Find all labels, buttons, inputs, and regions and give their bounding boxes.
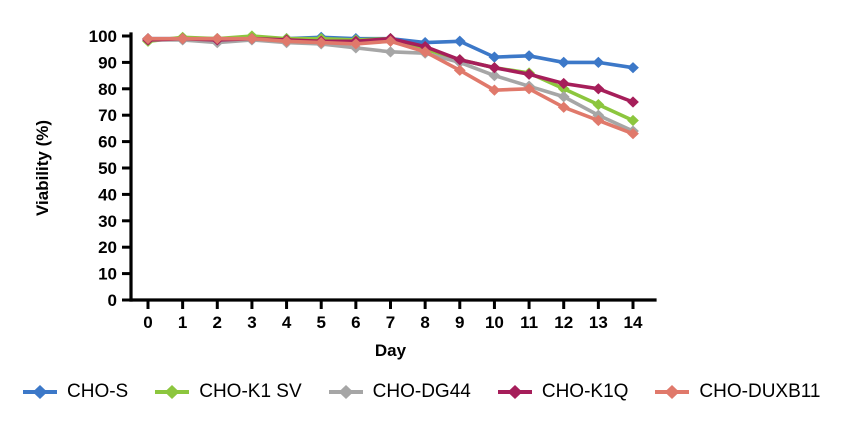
legend-diamond: [165, 385, 180, 399]
data-point-marker: [385, 46, 397, 57]
x-axis-title: Day: [375, 341, 407, 360]
legend-marker-icon: [654, 382, 690, 402]
legend-marker-icon: [154, 382, 190, 402]
legend-diamond: [33, 385, 48, 399]
data-point-marker: [558, 57, 570, 68]
x-axis-tick-label: 10: [485, 313, 504, 332]
x-axis-tick-label: 3: [247, 313, 256, 332]
legend-item[interactable]: CHO-K1Q: [497, 381, 629, 403]
y-axis-tick-label: 80: [98, 80, 117, 99]
plot-area: 0102030405060708090100012345678910111213…: [0, 0, 866, 372]
data-point-marker: [489, 62, 501, 73]
data-point-marker: [592, 99, 604, 110]
legend-marker-icon: [22, 382, 58, 402]
x-axis-tick-label: 5: [316, 313, 325, 332]
y-axis-tick-label: 50: [98, 159, 117, 178]
y-axis-tick-label: 70: [98, 106, 117, 125]
x-axis-tick-label: 12: [554, 313, 573, 332]
legend-diamond: [338, 385, 353, 399]
x-axis-tick-label: 4: [282, 313, 292, 332]
legend-label: CHO-S: [67, 381, 128, 403]
y-axis-tick-label: 40: [98, 185, 117, 204]
legend-item[interactable]: CHO-DG44: [328, 381, 471, 403]
x-axis-tick-label: 9: [455, 313, 464, 332]
x-axis-tick-label: 7: [386, 313, 395, 332]
y-axis-tick-label: 60: [98, 133, 117, 152]
data-point-marker: [489, 52, 501, 63]
legend-label: CHO-K1 SV: [199, 381, 301, 403]
data-point-marker: [627, 62, 639, 73]
y-axis-title: Viability (%): [33, 120, 52, 216]
y-axis-tick-label: 0: [108, 291, 117, 310]
x-axis-tick-label: 1: [178, 313, 187, 332]
x-axis-tick-label: 2: [213, 313, 222, 332]
legend-marker-icon: [328, 382, 364, 402]
legend-diamond: [507, 385, 522, 399]
data-point-marker: [523, 50, 535, 61]
legend-label: CHO-DUXB11: [699, 381, 820, 403]
data-point-marker: [177, 33, 189, 44]
viability-line-chart: 0102030405060708090100012345678910111213…: [0, 0, 866, 427]
x-axis-tick-label: 0: [143, 313, 152, 332]
data-point-marker: [627, 96, 639, 107]
data-point-marker: [627, 115, 639, 126]
x-axis-tick-label: 11: [520, 313, 538, 332]
y-axis-tick-label: 10: [98, 265, 117, 284]
legend-diamond: [665, 385, 680, 399]
chart-legend: CHO-SCHO-K1 SVCHO-DG44CHO-K1QCHO-DUXB11: [0, 372, 866, 412]
x-axis-tick-label: 8: [420, 313, 429, 332]
y-axis-tick-label: 100: [89, 27, 117, 46]
y-axis-tick-label: 30: [98, 212, 117, 231]
data-point-marker: [592, 83, 604, 94]
legend-item[interactable]: CHO-DUXB11: [654, 381, 820, 403]
y-axis-tick-label: 90: [98, 53, 117, 72]
data-point-marker: [523, 69, 535, 80]
legend-marker-icon: [497, 382, 533, 402]
legend-item[interactable]: CHO-K1 SV: [154, 381, 301, 403]
x-axis-tick-label: 13: [589, 313, 608, 332]
legend-label: CHO-K1Q: [542, 381, 629, 403]
x-axis-tick-label: 6: [351, 313, 360, 332]
legend-label: CHO-DG44: [373, 381, 471, 403]
data-point-marker: [454, 36, 466, 47]
legend-item[interactable]: CHO-S: [22, 381, 128, 403]
x-axis-tick-label: 14: [624, 313, 643, 332]
data-point-marker: [592, 57, 604, 68]
y-axis-tick-label: 20: [98, 238, 117, 257]
